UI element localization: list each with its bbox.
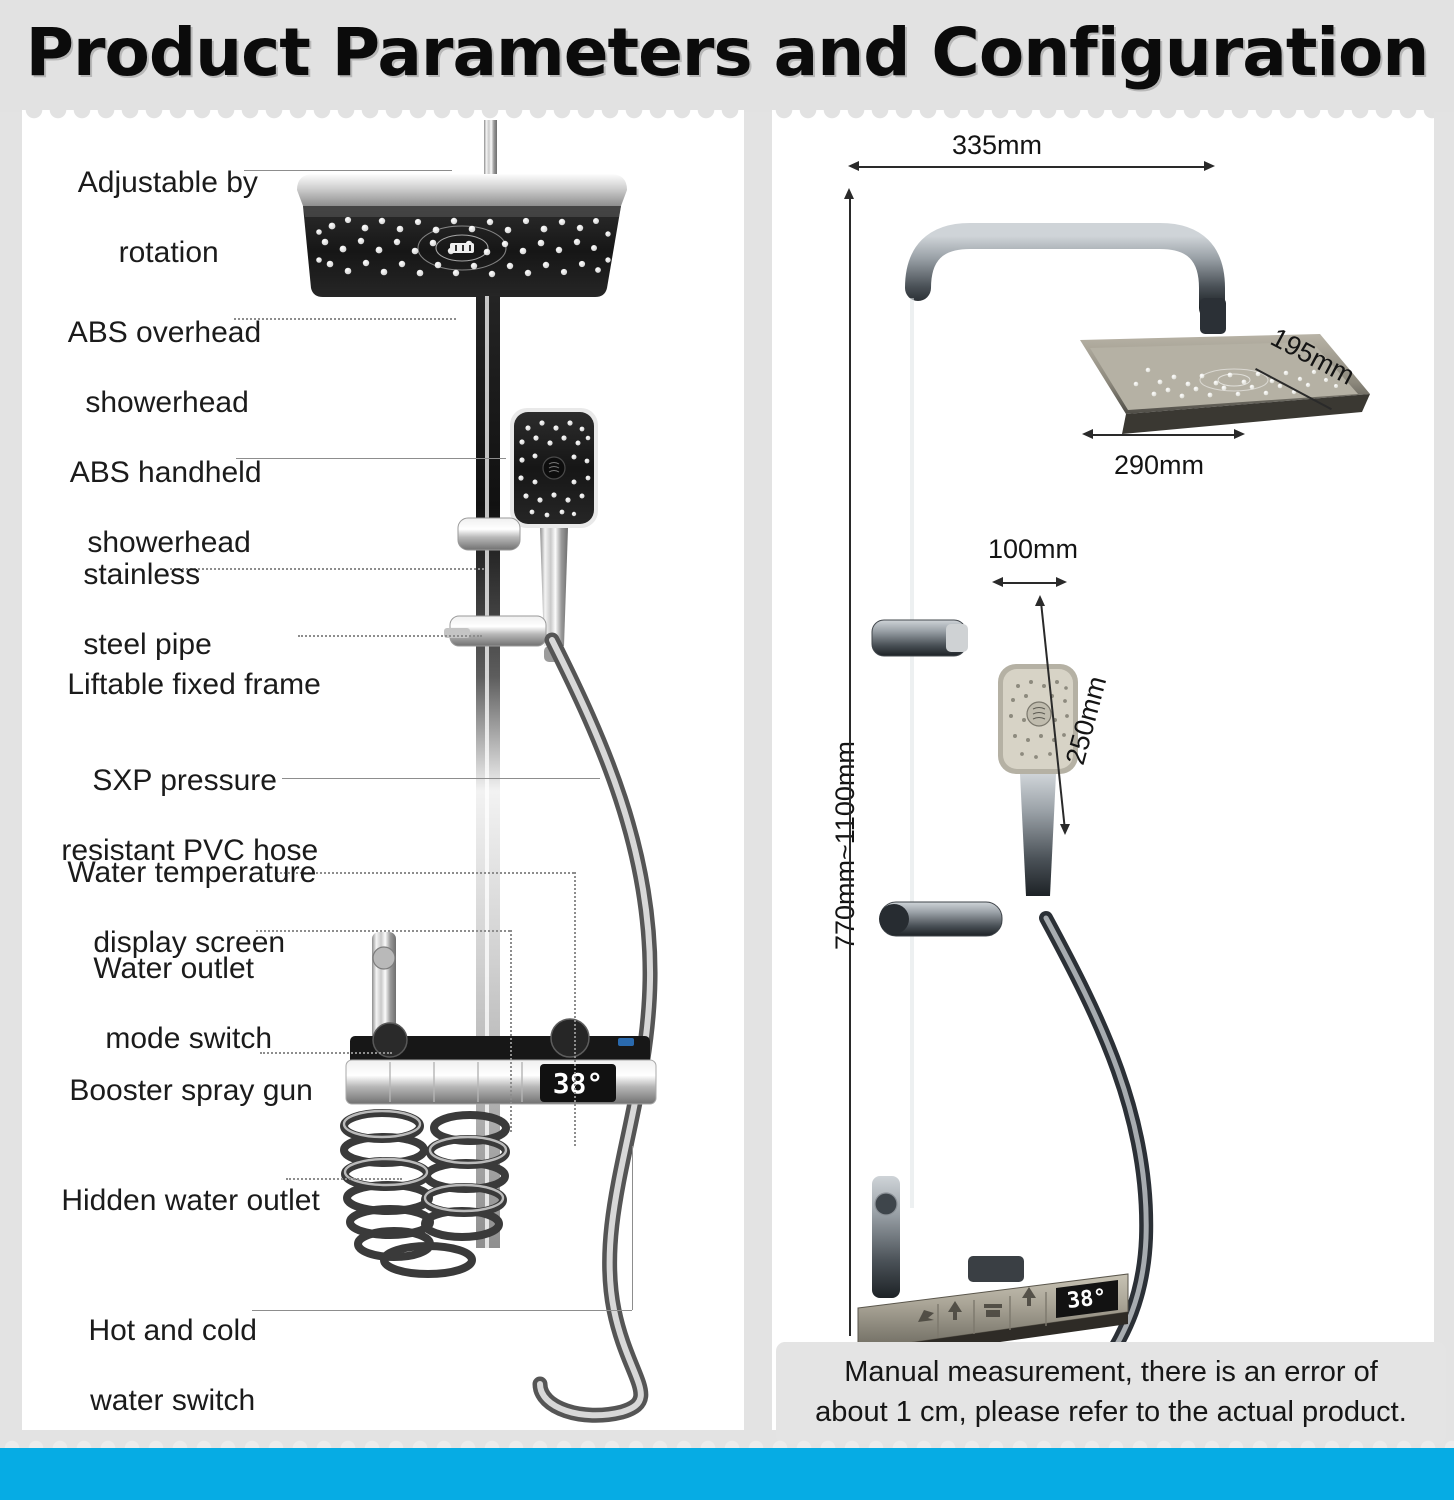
arrow-head-width-right <box>1234 429 1245 439</box>
arrow-handheld-width-left <box>992 577 1003 587</box>
dim-arm-reach: 335mm <box>952 130 1042 161</box>
product-illustration-right: 38° <box>850 158 1410 1388</box>
arrow-handheld-width-right <box>1056 577 1067 587</box>
leader-adjustable-rotation <box>244 170 452 171</box>
measurement-disclaimer: Manual measurement, there is an error of… <box>776 1342 1446 1444</box>
dim-head-width: 290mm <box>1114 450 1204 481</box>
callout-line-1: Liftable fixed frame <box>67 668 320 701</box>
leader-temp-display-drop <box>574 872 576 1146</box>
dimline-handheld-width <box>1000 582 1062 584</box>
leader-pvc-hose <box>282 778 600 779</box>
leader-hot-cold-rise <box>632 1146 633 1310</box>
page-title: Product Parameters and Configuration <box>0 14 1454 91</box>
arrow-arm-reach-right <box>1204 161 1215 171</box>
leader-outlet-mode-drop <box>510 930 512 1132</box>
dimline-overall-height <box>849 196 851 1336</box>
callout-line-1: SXP pressure <box>92 764 277 797</box>
handheld-showerhead-art-right <box>998 664 1078 896</box>
left-panel: 38° <box>22 110 744 1430</box>
slider-bracket-art <box>879 902 1002 936</box>
control-console-art: 38° <box>346 1019 656 1104</box>
leader-liftable-frame <box>298 635 482 637</box>
callout-line-1: Water outlet <box>93 952 254 985</box>
right-panel: 38° 335mm 290mm 195mm 770mm~1100mm 100mm… <box>772 110 1434 1430</box>
disclaimer-line-1: Manual measurement, there is an error of <box>844 1356 1378 1388</box>
bottom-accent-strip <box>0 1448 1454 1500</box>
arrow-handheld-length-top <box>1035 595 1045 606</box>
panel-scallop-edge <box>772 110 1434 128</box>
callout-line-2: rotation <box>119 236 219 269</box>
arrow-arm-reach-left <box>848 161 859 171</box>
liftable-frame-art-right <box>872 620 968 656</box>
callout-line-1: Hidden water outlet <box>61 1184 320 1217</box>
callout-liftable-frame: Liftable fixed frame <box>34 632 314 737</box>
strip-scallop-edge <box>0 1434 1454 1448</box>
leader-hot-cold <box>252 1310 632 1311</box>
arrow-handheld-length-bottom <box>1060 824 1070 835</box>
svg-text:38°: 38° <box>553 1067 604 1100</box>
disclaimer-line-2: about 1 cm, please refer to the actual p… <box>815 1396 1407 1428</box>
callout-adjustable-rotation: Adjustable by rotation <box>32 130 272 305</box>
dimline-arm-reach <box>856 166 1210 168</box>
arrow-head-width-left <box>1082 429 1093 439</box>
arrow-overall-height-top <box>844 188 854 199</box>
callout-hidden-water-outlet: Hidden water outlet <box>28 1148 328 1253</box>
callout-line-2: showerhead <box>69 385 248 420</box>
callout-line-1: Hot and cold <box>88 1314 256 1347</box>
dim-overall-height: 770mm~1100mm <box>830 741 861 950</box>
callout-line-1: Booster spray gun <box>69 1074 312 1107</box>
callout-line-1: ABS handheld <box>70 456 262 489</box>
dim-handheld-width: 100mm <box>988 534 1078 565</box>
svg-text:38°: 38° <box>1066 1285 1108 1314</box>
callout-hot-cold-switch: Hot and cold water switch <box>40 1278 272 1453</box>
dimline-head-width <box>1090 434 1240 436</box>
overhead-showerhead-art <box>297 174 627 297</box>
callout-line-2: water switch <box>90 1384 255 1417</box>
callout-line-1: Adjustable by <box>78 166 258 199</box>
title-bar: Product Parameters and Configuration <box>0 0 1454 112</box>
callout-line-1: stainless <box>83 558 200 591</box>
callout-booster-spray-gun: Booster spray gun <box>36 1038 316 1143</box>
callout-line-1: ABS overhead <box>68 316 261 349</box>
booster-spray-gun-art-right <box>872 1176 900 1298</box>
callout-line-1: Water temperature <box>67 856 316 889</box>
